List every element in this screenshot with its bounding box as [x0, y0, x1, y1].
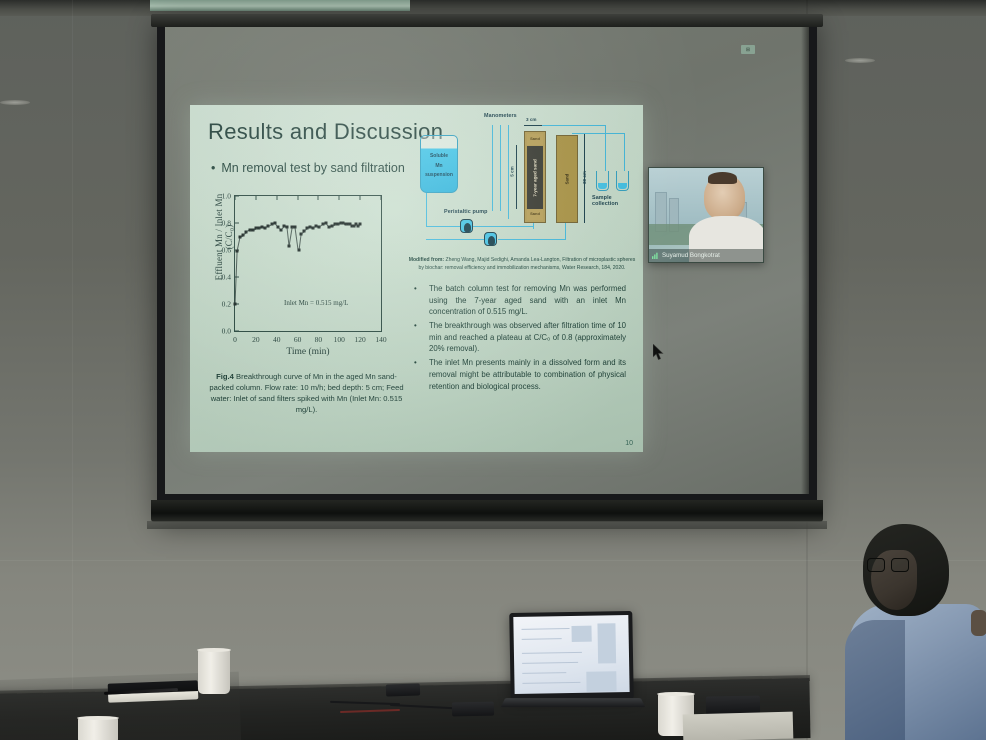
cursor-arrow-icon [653, 344, 665, 361]
slide-bullet-text: The breakthrough was observed after filt… [429, 320, 626, 355]
chart-y-tick-mark [235, 331, 239, 332]
figure-caption: Fig.4 Breakthrough curve of Mn in the ag… [204, 371, 409, 415]
chart-x-tick-label: 120 [355, 335, 366, 344]
slide-bullet-list: •The batch column test for removing Mn w… [414, 283, 626, 394]
peristaltic-pump-2 [484, 232, 497, 246]
laptop-screen [513, 615, 629, 694]
desk-device-2 [452, 702, 494, 717]
laptop-content-block [597, 623, 616, 663]
sample-beaker-1 [596, 171, 609, 191]
ceiling-light-strip [150, 0, 410, 11]
wall-floor-line [0, 560, 986, 561]
chart-y-tick-label: 0.4 [222, 273, 231, 282]
sample-beaker-2 [616, 171, 629, 191]
pipe-top-out-1 [542, 125, 606, 126]
chart-y-tick-label: 1.0 [222, 192, 231, 201]
presentation-slide: Results and Discussion •Mn removal test … [190, 105, 643, 452]
aged-sand-bed: 7-year aged sand [527, 146, 543, 210]
pipe-column-feed [533, 223, 534, 229]
chart-x-tick-mark [318, 196, 319, 200]
laptop-content-line [522, 662, 578, 664]
screen-case-top [151, 14, 823, 27]
chart-line-segment [289, 227, 293, 246]
chart-x-tick-label: 40 [273, 335, 281, 344]
coffee-cup-1 [198, 650, 230, 694]
webcam-name-bar: Suyamud Bongkotrat [649, 249, 763, 262]
chart-x-tick-mark [381, 196, 382, 200]
attendee-head [863, 524, 949, 616]
coffee-cup-2 [78, 718, 118, 740]
laptop-content-block [571, 626, 591, 642]
laptop[interactable] [509, 611, 634, 701]
glasses-icon [867, 558, 911, 573]
bullet-marker-icon: • [414, 320, 429, 355]
aged-sand-label: 7-year aged sand [533, 159, 538, 197]
attendee-person [845, 524, 986, 740]
attendee-shoulder [845, 620, 905, 740]
citation-text: Zheng Wang, Majid Sedighi, Amanda Lea-La… [419, 257, 636, 271]
pipe-pump2-to-side [498, 239, 566, 240]
chart-x-tick-label: 80 [315, 335, 323, 344]
wall-seam-left [72, 0, 73, 740]
breakthrough-chart: Effluent Mn / Inlet Mn (C/C₀) 0.00.20.40… [206, 189, 402, 369]
dim-bed-line [516, 145, 517, 209]
coffee-cup-2-rim [77, 716, 119, 720]
chart-plot-area: 0.00.20.40.60.81.0020406080100120140 [234, 195, 382, 332]
ceiling-light-2 [845, 58, 875, 63]
manometers-label: Manometers [484, 113, 517, 119]
suspension-tank: Soluble Mn suspension [420, 135, 458, 193]
projection-screen: Results and Discussion •Mn removal test … [157, 16, 817, 521]
tank-label: Soluble Mn suspension [421, 152, 457, 181]
bullet-marker-icon: • [414, 283, 429, 318]
webcam-person-head [704, 174, 745, 220]
peristaltic-pump-1 [460, 219, 473, 233]
sand-cap-top-label: Sand [527, 136, 543, 141]
laptop-content-line [522, 672, 566, 674]
chart-x-axis-label: Time (min) [234, 347, 382, 357]
pipe-bottom-2 [426, 239, 486, 240]
sample-collection-label: Sample collection [592, 195, 634, 207]
laptop-content-block [586, 671, 616, 692]
bullet-marker-icon: • [414, 357, 429, 392]
chart-x-tick-label: 20 [252, 335, 260, 344]
webcam-person-hair [708, 172, 737, 184]
slide-bullet-text: The inlet Mn presents mainly in a dissol… [429, 357, 626, 392]
glasses-lens-right [891, 558, 909, 572]
filtration-column: Sand 7-year aged sand Sand [524, 131, 546, 223]
chart-x-tick-label: 60 [294, 335, 302, 344]
chart-x-tick-label: 100 [334, 335, 345, 344]
dim-bed-label: 5 cm [510, 166, 515, 176]
screen-bottom-bar [151, 500, 823, 522]
dim-width-label: 3 cm [526, 117, 536, 122]
chart-x-tick-mark [276, 196, 277, 200]
glasses-lens-left [867, 558, 885, 572]
slide-subtitle-text: Mn removal test by sand filtration [221, 161, 404, 175]
bullet-marker-icon: • [211, 161, 215, 175]
sand-cap-bottom-label: Sand [527, 211, 543, 216]
chart-x-tick-mark [360, 196, 361, 200]
chart-y-tick-mark [235, 196, 239, 197]
chart-data-point [359, 223, 362, 226]
screen-surface: Results and Discussion •Mn removal test … [165, 27, 809, 494]
laptop-content-line [522, 628, 570, 630]
chart-x-tick-label: 0 [233, 335, 237, 344]
dim-height-label: 30 cm [582, 171, 587, 184]
manometer-tube-2 [500, 125, 501, 211]
slide-bullet-item: •The inlet Mn presents mainly in a disso… [414, 357, 626, 392]
mic-signal-icon [652, 252, 659, 259]
sand-cap-top: Sand [527, 134, 543, 145]
sand-cap-bottom: Sand [527, 209, 543, 220]
chart-x-tick-mark [235, 196, 236, 200]
laptop-content-line [522, 638, 562, 640]
chart-y-tick-label: 0.0 [222, 327, 231, 336]
webcam-participant-name: Suyamud Bongkotrat [662, 252, 720, 259]
chart-line-segment [298, 234, 301, 250]
laptop-keyboard-base[interactable] [501, 698, 646, 707]
pipe-top-out-2 [605, 125, 606, 171]
ceiling-light-1 [0, 100, 30, 105]
figure-caption-label: Fig.4 [216, 372, 234, 381]
pipe-tank-down [426, 193, 427, 227]
slide-bullet-item: •The batch column test for removing Mn w… [414, 283, 626, 318]
paper-stack [683, 712, 794, 740]
attendee-hand [971, 610, 986, 636]
pipe-top-out-4 [624, 133, 625, 171]
slide-bullet-text: The batch column test for removing Mn wa… [429, 283, 626, 318]
chart-x-tick-mark [339, 196, 340, 200]
slide-bullet-item: •The breakthrough was observed after fil… [414, 320, 626, 355]
screen-corner-widget[interactable]: ⊞ [741, 45, 755, 54]
corner-widget-label: ⊞ [746, 47, 750, 53]
chart-x-tick-label: 140 [375, 335, 386, 344]
coffee-cup-1-rim [197, 648, 231, 652]
pipe-top-out-3 [572, 133, 625, 134]
pipe-side-feed [565, 223, 566, 240]
control-column: Sand [556, 135, 578, 223]
manometer-tube-1 [492, 125, 493, 211]
slide-number: 10 [625, 440, 633, 447]
control-column-label: Sand [565, 174, 570, 185]
figure-caption-text: Breakthrough curve of Mn in the aged Mn … [209, 372, 403, 414]
chart-annotation: Inlet Mn = 0.515 mg/L [284, 299, 348, 307]
chart-x-tick-mark [297, 196, 298, 200]
peristaltic-pump-label: Peristaltic pump [444, 209, 488, 215]
screenshot-root: Results and Discussion •Mn removal test … [0, 0, 986, 740]
laptop-content-line [522, 682, 580, 684]
laptop-content-line [522, 652, 582, 654]
pipe-pump-to-column [472, 226, 534, 227]
source-citation: Modified from: Zheng Wang, Majid Sedighi… [408, 257, 636, 273]
apparatus-diagram: Manometers Soluble Mn suspension [412, 113, 634, 253]
citation-label: Modified from: [409, 257, 444, 263]
slide-subtitle-bullet: •Mn removal test by sand filtration [211, 161, 405, 175]
chart-y-tick-label: 0.2 [222, 300, 231, 309]
webcam-participant-tile[interactable]: Suyamud Bongkotrat [648, 167, 764, 263]
slide-title: Results and Discussion [208, 119, 443, 145]
screen-right-shadow [801, 27, 809, 494]
chart-x-tick-mark [255, 196, 256, 200]
chart-y-tick-mark [235, 223, 239, 224]
chart-y-tick-label: 0.6 [222, 246, 231, 255]
pipe-bottom-1 [426, 226, 464, 227]
chart-y-tick-label: 0.8 [222, 219, 231, 228]
chart-line-segment [235, 252, 238, 305]
screen-bottom-lip [147, 521, 827, 529]
coffee-cup-3-rim [657, 692, 695, 696]
desk-device-1 [386, 683, 420, 696]
cable-red [340, 709, 400, 713]
